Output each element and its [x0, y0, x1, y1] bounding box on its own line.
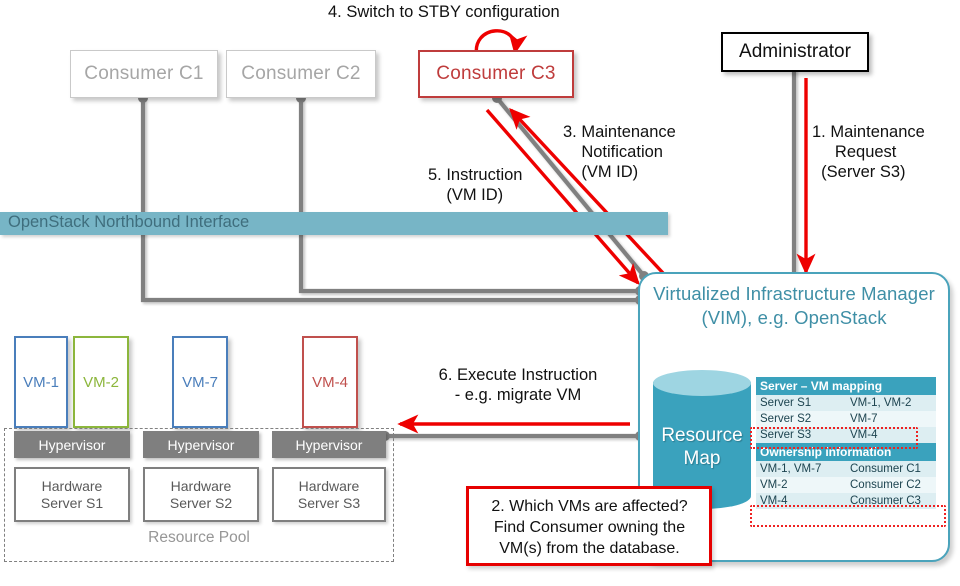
- consumer-c1-label: Consumer C1: [84, 63, 203, 85]
- cylinder-top: [653, 370, 751, 396]
- hardware-server-s3: Hardware Server S3: [272, 467, 386, 522]
- step4-label: 4. Switch to STBY configuration: [328, 2, 560, 22]
- highlight-server-s3: [750, 427, 918, 449]
- step2-callout: 2. Which VMs are affected? Find Consumer…: [466, 486, 712, 566]
- table-row[interactable]: Server S1 VM-1, VM-2: [756, 395, 936, 411]
- hypervisor-3-label: Hypervisor: [296, 437, 363, 453]
- hardware-s1-line2: Server S1: [41, 495, 103, 512]
- table-row[interactable]: VM-1, VM-7 Consumer C1: [756, 461, 936, 477]
- table-row[interactable]: VM-2 Consumer C2: [756, 477, 936, 493]
- administrator-label: Administrator: [739, 41, 851, 63]
- hardware-server-s2: Hardware Server S2: [143, 467, 259, 522]
- hardware-s2-line1: Hardware: [170, 478, 232, 495]
- hardware-server-s1: Hardware Server S1: [14, 467, 130, 522]
- vm-7-box[interactable]: VM-7: [172, 336, 228, 428]
- database-label-line2: Map: [653, 447, 751, 470]
- vm-2-box[interactable]: VM-2: [73, 336, 129, 428]
- vm-2-label: VM-2: [83, 374, 119, 391]
- database-label-line1: Resource: [653, 424, 751, 447]
- step6-label: 6. Execute Instruction - e.g. migrate VM: [408, 365, 628, 405]
- database-label: Resource Map: [653, 424, 751, 470]
- vm-4-label: VM-4: [312, 374, 348, 391]
- vim-title-line1: Virtualized Infrastructure Manager: [644, 282, 944, 306]
- hardware-s2-line2: Server S2: [170, 495, 232, 512]
- vim-title-line2: (VIM), e.g. OpenStack: [644, 306, 944, 330]
- consumer-c2-box[interactable]: Consumer C2: [226, 50, 376, 98]
- resource-pool-label: Resource Pool: [5, 529, 393, 547]
- step5-label: 5. Instruction (VM ID): [428, 165, 522, 205]
- vm-1-label: VM-1: [23, 374, 59, 391]
- vim-title: Virtualized Infrastructure Manager (VIM)…: [644, 282, 944, 330]
- hypervisor-3: Hypervisor: [272, 431, 386, 458]
- consumer-c1-box[interactable]: Consumer C1: [70, 50, 218, 98]
- table-row[interactable]: Server S2 VM-7: [756, 411, 936, 427]
- administrator-box[interactable]: Administrator: [721, 32, 869, 72]
- northbound-label: OpenStack Northbound Interface: [0, 213, 249, 232]
- hypervisor-2-label: Hypervisor: [168, 437, 235, 453]
- vm-7-label: VM-7: [182, 374, 218, 391]
- hardware-s3-line2: Server S3: [298, 495, 360, 512]
- hardware-s1-line1: Hardware: [41, 478, 103, 495]
- hypervisor-1-label: Hypervisor: [39, 437, 106, 453]
- step3-label: 3. Maintenance Notification (VM ID): [563, 122, 676, 182]
- consumer-c3-box[interactable]: Consumer C3: [418, 50, 574, 98]
- table-section-header: Server – VM mapping: [756, 377, 936, 395]
- consumer-c3-label: Consumer C3: [436, 63, 555, 85]
- vm-4-box[interactable]: VM-4: [302, 336, 358, 428]
- hardware-s3-line1: Hardware: [298, 478, 360, 495]
- hypervisor-2: Hypervisor: [143, 431, 259, 458]
- consumer-c2-label: Consumer C2: [241, 63, 360, 85]
- vm-1-box[interactable]: VM-1: [14, 336, 68, 428]
- highlight-vm4-consumer-c3: [750, 505, 946, 527]
- step1-label: 1. Maintenance Request (Server S3): [812, 122, 925, 182]
- step2-text: 2. Which VMs are affected? Find Consumer…: [491, 498, 687, 557]
- hypervisor-1: Hypervisor: [14, 431, 130, 458]
- openstack-northbound-interface-bar: OpenStack Northbound Interface: [0, 212, 668, 235]
